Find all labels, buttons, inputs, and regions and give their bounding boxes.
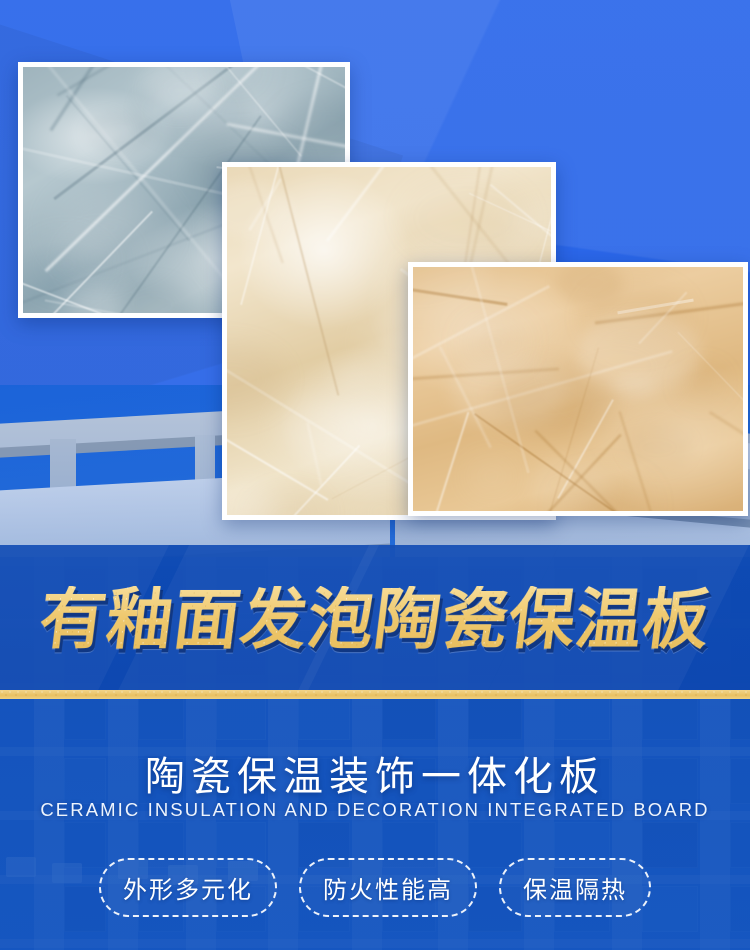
marble-blotch [684,371,721,395]
marble-vein [220,67,345,132]
marble-vein [413,351,673,435]
marble-blotch [131,72,251,150]
tile-sample-3[interactable] [408,262,748,516]
marble-vein [413,285,507,305]
marble-blotch [277,398,369,458]
marble-blotch [29,240,103,288]
marble-vein [273,167,339,395]
marble-vein [709,411,743,466]
marble-blotch [249,488,330,515]
marble-vein [638,292,687,345]
marble-blotch [276,96,345,160]
marble-vein [241,445,360,515]
marble-vein [413,368,559,382]
marble-vein [23,211,153,313]
marble-blotch [81,120,122,147]
marble-vein [557,399,614,499]
gold-divider [0,690,750,699]
marble-vein [677,332,743,436]
marble-vein [469,267,530,474]
feature-tag-3[interactable]: 保温隔热 [499,858,651,917]
marble-blotch [566,480,645,511]
marble-blotch [358,498,401,516]
marble-blotch [114,280,191,313]
marble-blotch [578,312,700,391]
subtitle-chinese: 陶瓷保温装饰一体化板 [0,744,750,802]
marble-vein [66,95,190,241]
marble-blotch [209,67,262,87]
marble-blotch [398,173,534,261]
marble-blotch [467,325,524,362]
marble-blotch [623,425,692,470]
marble-vein [248,178,282,231]
marble-vein [326,167,430,242]
marble-vein [23,137,250,202]
marble-blotch [614,374,654,400]
marble-blotch [141,67,218,110]
marble-vein [213,67,301,157]
marble-vein [618,299,694,315]
marble-blotch [452,354,565,428]
marble-vein [538,167,551,267]
marble-blotch [494,363,612,439]
marble-vein [45,299,149,313]
marble-vein [307,422,323,486]
marble-vein [439,346,491,447]
subtitle-english: CERAMIC INSULATION AND DECORATION INTEGR… [0,799,750,821]
marble-vein [226,123,345,160]
marble-blotch [556,267,623,305]
product-poster: 有釉面发泡陶瓷保温板 陶瓷保温装饰一体化板 CERAMIC INSULATION… [0,0,750,950]
marble-vein [23,219,238,313]
marble-blotch [469,462,514,491]
marble-vein [23,278,141,313]
marble-blotch [529,458,610,511]
marble-blotch [413,267,489,321]
marble-vein [243,167,283,264]
tile-sample-3-texture [413,267,743,511]
marble-vein [619,411,679,511]
marble-vein [57,67,139,96]
marble-blotch [333,362,373,388]
marble-blotch [56,192,165,263]
marble-blotch [85,111,153,155]
marble-vein [478,434,622,511]
marble-blotch [584,283,689,351]
marble-vein [595,291,743,325]
marble-blotch [64,283,122,313]
marble-vein [31,67,238,296]
marble-blotch [145,68,214,113]
marble-blotch [550,325,680,409]
marble-blotch [65,236,132,280]
marble-vein [535,430,672,511]
marble-vein [240,167,285,305]
marble-vein [474,413,661,511]
marble-vein [49,67,117,131]
feature-tag-2[interactable]: 防火性能高 [299,858,477,917]
marble-blotch [227,182,292,237]
marble-vein [227,419,329,500]
marble-blotch [227,485,280,515]
page-title: 有釉面发泡陶瓷保温板 [0,586,750,652]
marble-blotch [227,343,285,416]
marble-blotch [503,200,551,260]
feature-tag-1[interactable]: 外形多元化 [99,858,277,917]
feature-tag-list: 外形多元化 防火性能高 保温隔热 [0,858,750,917]
marble-vein [413,284,551,382]
marble-vein [424,412,469,511]
marble-vein [520,347,599,511]
marble-vein [227,364,416,488]
